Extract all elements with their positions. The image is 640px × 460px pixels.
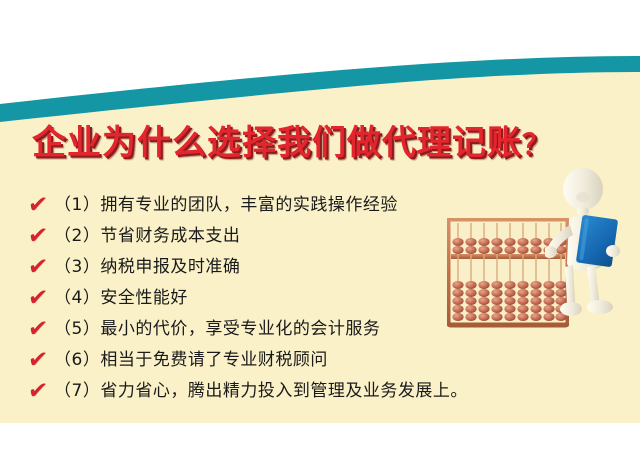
- poster-canvas: 企业为什么选择我们做代理记账？ ✔ （1）拥有专业的团队，丰富的实践操作经验 ✔…: [0, 0, 640, 460]
- list-item-label: （4）安全性能好: [54, 283, 188, 314]
- list-item-label: （1）拥有专业的团队，丰富的实践操作经验: [54, 190, 398, 221]
- list-item: ✔ （1）拥有专业的团队，丰富的实践操作经验: [28, 190, 548, 221]
- list-item-label: （3）纳税申报及时准确: [54, 252, 240, 283]
- check-mark-icon: ✔: [26, 190, 55, 221]
- page-title-text: 企业为什么选择我们做代理记账: [32, 123, 522, 163]
- list-item-label: （7）省力省心，腾出精力投入到管理及业务发展上。: [54, 376, 468, 407]
- list-item: ✔ （7）省力省心，腾出精力投入到管理及业务发展上。: [28, 376, 548, 407]
- check-mark-icon: ✔: [26, 345, 55, 376]
- list-item: ✔ （6）相当于免费请了专业财税顾问: [28, 345, 548, 376]
- check-mark-icon: ✔: [26, 376, 55, 407]
- check-mark-icon: ✔: [26, 221, 55, 252]
- page-title-question-mark: ？: [522, 128, 551, 161]
- list-item-label: （6）相当于免费请了专业财税顾问: [54, 345, 328, 376]
- check-mark-icon: ✔: [26, 252, 55, 283]
- list-item-label: （2）节省财务成本支出: [54, 221, 240, 252]
- check-mark-icon: ✔: [26, 314, 55, 345]
- page-title: 企业为什么选择我们做代理记账？: [32, 126, 551, 160]
- list-item-label: （5）最小的代价，享受专业化的会计服务: [54, 314, 380, 345]
- check-mark-icon: ✔: [26, 283, 55, 314]
- 3d-person-with-book-illustration: [545, 167, 637, 329]
- blue-book-icon: [576, 215, 618, 268]
